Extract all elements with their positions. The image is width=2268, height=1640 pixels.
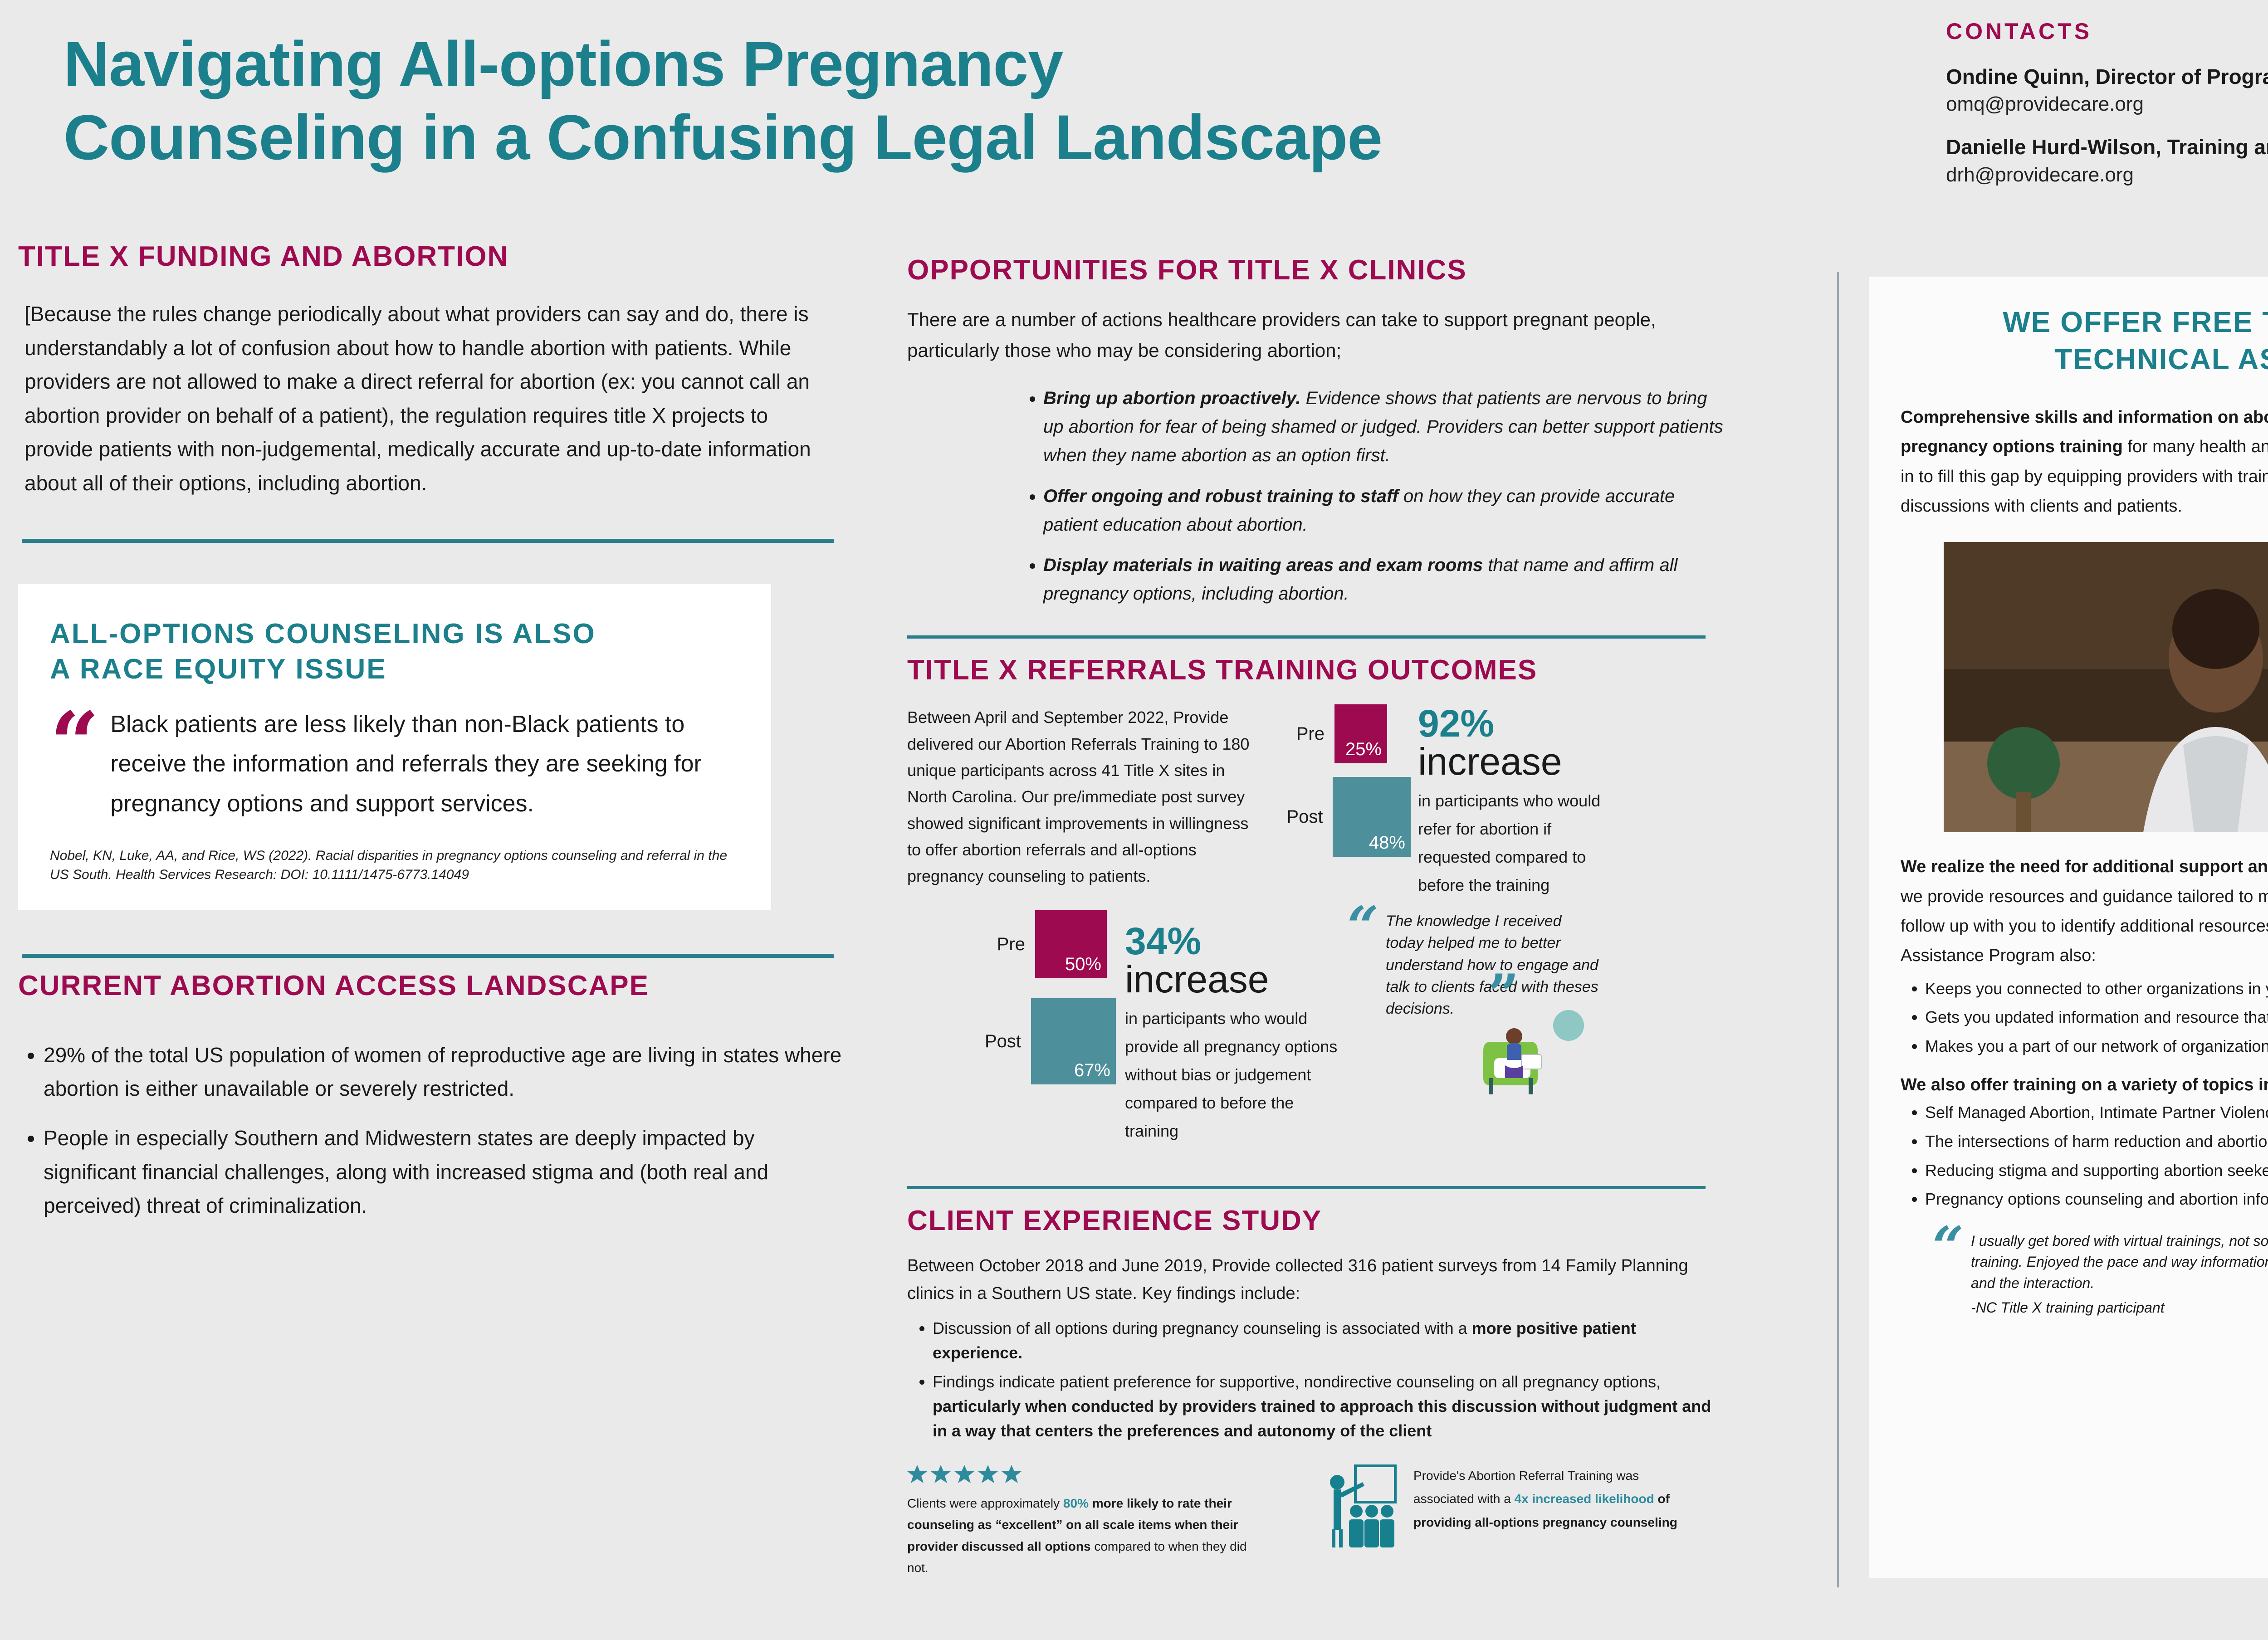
participant-quote-text: I usually get bored with virtual trainin… — [1971, 1230, 2268, 1293]
panel3-title-line2: TECHNICAL ASSISTANCE — [1901, 341, 2268, 378]
contact-name: Danielle Hurd-Wilson, Training and Outre… — [1946, 133, 2268, 161]
list-item: Gets you updated information and resourc… — [1925, 1004, 2268, 1030]
contacts-block: CONTACTS Ondine Quinn, Director of Progr… — [1946, 18, 2268, 188]
bar-post: 67% — [1031, 998, 1116, 1084]
training-presenter-icon — [1315, 1464, 1406, 1550]
ces-heading: CLIENT EXPERIENCE STUDY — [907, 1205, 1724, 1237]
landscape-heading: CURRENT ABORTION ACCESS LANDSCAPE — [18, 970, 848, 1002]
quote-card-heading: ALL-OPTIONS COUNSELING IS ALSO A RACE EQ… — [50, 616, 739, 687]
col1-heading: TITLE X FUNDING AND ABORTION — [18, 240, 848, 273]
bullet-bold: Offer ongoing and robust training to sta… — [1043, 486, 1398, 506]
page-title: Navigating All-options Pregnancy Counsel… — [64, 27, 1678, 175]
stat-34-description: in participants who would provide all pr… — [1125, 1005, 1338, 1145]
title-line-1: Navigating All-options Pregnancy — [64, 27, 1678, 101]
participant-quote-attrib: -NC Title X training participant — [1971, 1297, 2268, 1318]
title-line-2: Counseling in a Confusing Legal Landscap… — [64, 101, 1678, 174]
panel3-title-line1: WE OFFER FREE TRAINING AND — [1901, 304, 2268, 341]
opportunities-bullet-list: Bring up abortion proactively. Evidence … — [907, 384, 1724, 608]
list-item: 29% of the total US population of women … — [44, 1038, 848, 1106]
list-item: People in especially Southern and Midwes… — [44, 1121, 848, 1223]
bar-row-pre: Pre 50% — [966, 910, 1116, 978]
topics-heading: We also offer training on a variety of t… — [1901, 1075, 2268, 1095]
stat-34-word: increase — [1125, 958, 1269, 1001]
bar-label-post: Post — [1266, 807, 1333, 827]
ta-bullet-list: Keeps you connected to other organizatio… — [1901, 976, 2268, 1059]
bar-value-post: 67% — [1074, 1060, 1110, 1081]
bullet-plain: Findings indicate patient preference for… — [933, 1372, 1661, 1391]
opportunities-intro: There are a number of actions healthcare… — [907, 304, 1724, 366]
contact-entry: Danielle Hurd-Wilson, Training and Outre… — [1946, 133, 2268, 188]
stars-text-1: Clients were approximately — [907, 1496, 1063, 1510]
stat-92-title: 92% increase — [1418, 704, 1627, 781]
contact-name: Ondine Quinn, Director of Program Develo… — [1946, 63, 2268, 91]
quote-mark-icon: “ — [50, 713, 99, 775]
list-item: Self Managed Abortion, Intimate Partner … — [1925, 1099, 2268, 1126]
teach-highlight: 4x increased likelihood — [1515, 1492, 1654, 1506]
column-2: OPPORTUNITIES FOR TITLE X CLINICS There … — [907, 254, 1724, 1579]
list-item: Keeps you connected to other organizatio… — [1925, 976, 2268, 1002]
bar-pre: 25% — [1334, 704, 1387, 763]
contact-email[interactable]: omq@providecare.org — [1946, 91, 2268, 117]
list-item: Bring up abortion proactively. Evidence … — [1043, 384, 1724, 470]
list-item: The intersections of harm reduction and … — [1925, 1128, 2268, 1155]
divider-line — [907, 635, 1706, 639]
race-equity-quote-card: ALL-OPTIONS COUNSELING IS ALSO A RACE EQ… — [18, 584, 771, 910]
chart-92-bars: Pre 25% Post 48% — [1252, 704, 1411, 899]
bullet-plain: Discussion of all options during pregnan… — [933, 1319, 1472, 1337]
bullet-bold: Display materials in waiting areas and e… — [1043, 555, 1483, 575]
provider-photo-illustration — [1944, 542, 2268, 832]
provider-photo — [1944, 542, 2268, 832]
quote-heading-line1: ALL-OPTIONS COUNSELING IS ALSO — [50, 616, 739, 652]
teach-stat: Provide's Abortion Referral Training was… — [1315, 1464, 1706, 1579]
list-item: Discussion of all options during pregnan… — [933, 1316, 1724, 1365]
bullet-bold: Bring up abortion proactively. — [1043, 388, 1300, 408]
list-item: Reducing stigma and supporting abortion … — [1925, 1157, 2268, 1184]
bar-label-post: Post — [966, 1031, 1031, 1052]
quote-text: Black patients are less likely than non-… — [110, 705, 739, 824]
bar-label-pre: Pre — [966, 934, 1035, 955]
quote-mark-icon: “ — [1347, 910, 1378, 1020]
bar-row-post: Post 48% — [1266, 777, 1411, 857]
stars-highlight: 80% — [1063, 1496, 1089, 1510]
divider-line — [22, 539, 834, 543]
stat-34-title: 34% increase — [1125, 922, 1338, 998]
stat-92: 92% increase in participants who would r… — [1411, 704, 1627, 899]
column-1: TITLE X FUNDING AND ABORTION [Because th… — [18, 240, 848, 1238]
teach-stat-text: Provide's Abortion Referral Training was… — [1406, 1464, 1695, 1579]
participant-quote-block: “ I usually get bored with virtual train… — [1901, 1230, 2268, 1318]
stars-stat: Clients were approximately 80% more like… — [907, 1464, 1315, 1579]
stat-92-number: 92% — [1418, 702, 1494, 745]
bar-pre: 50% — [1035, 910, 1107, 978]
topics-list: Self Managed Abortion, Intimate Partner … — [1901, 1099, 2268, 1212]
citation: Nobel, KN, Luke, AA, and Rice, WS (2022)… — [50, 846, 739, 884]
bar-value-post: 48% — [1369, 833, 1405, 853]
person-reading-illustration — [1474, 1005, 1592, 1096]
panel3-intro: Comprehensive skills and information on … — [1901, 403, 2268, 521]
list-item: Pregnancy options counseling and abortio… — [1925, 1186, 2268, 1212]
list-item: Offer ongoing and robust training to sta… — [1043, 482, 1724, 539]
landscape-bullet-list: 29% of the total US population of women … — [18, 1038, 848, 1223]
bar-label-pre: Pre — [1266, 724, 1334, 744]
col1-paragraph: [Because the rules change periodically a… — [18, 297, 848, 500]
quote-heading-line2: A RACE EQUITY ISSUE — [50, 652, 739, 687]
opportunities-heading: OPPORTUNITIES FOR TITLE X CLINICS — [907, 254, 1724, 286]
participant-quote-body: I usually get bored with virtual trainin… — [1971, 1230, 2268, 1318]
ces-intro: Between October 2018 and June 2019, Prov… — [907, 1252, 1724, 1308]
column-3-panel: WE OFFER FREE TRAINING AND TECHNICAL ASS… — [1869, 277, 2268, 1578]
list-item: Makes you a part of our network of organ… — [1925, 1033, 2268, 1059]
divider-line — [22, 954, 834, 958]
divider-line — [907, 1186, 1706, 1189]
stat-92-description: in participants who would refer for abor… — [1418, 787, 1627, 899]
panel3-support-bold: We realize the need for additional suppo… — [1901, 857, 2268, 876]
col1-paragraph-text: [Because the rules change periodically a… — [24, 302, 811, 495]
ces-bullet-list: Discussion of all options during pregnan… — [907, 1316, 1724, 1443]
bar-row-post: Post 67% — [966, 998, 1116, 1084]
stat-34: 34% increase in participants who would p… — [1116, 910, 1338, 1145]
panel3-support: We realize the need for additional suppo… — [1901, 852, 2268, 971]
stars-stat-text: Clients were approximately 80% more like… — [907, 1493, 1252, 1579]
outcomes-paragraph: Between April and September 2022, Provid… — [907, 704, 1252, 899]
five-stars-icon — [907, 1464, 1025, 1485]
chart-34-bars: Pre 50% Post 67% — [907, 910, 1116, 1145]
outcomes-row-1: Between April and September 2022, Provid… — [907, 704, 1724, 899]
list-item: Display materials in waiting areas and e… — [1043, 551, 1724, 608]
stat-92-word: increase — [1418, 740, 1562, 783]
list-item: Findings indicate patient preference for… — [933, 1370, 1724, 1443]
training-quote-block: “ The knowledge I received today helped … — [1338, 910, 1601, 1145]
bar-row-pre: Pre 25% — [1266, 704, 1411, 763]
vertical-divider — [1837, 272, 1839, 1587]
outcomes-row-2: Pre 50% Post 67% 34% increase in partici… — [907, 910, 1724, 1145]
poster-root: Navigating All-options Pregnancy Counsel… — [0, 0, 2268, 1640]
bar-post: 48% — [1333, 777, 1411, 857]
outcomes-heading: TITLE X REFERRALS TRAINING OUTCOMES — [907, 654, 1724, 686]
ces-icon-row: Clients were approximately 80% more like… — [907, 1464, 1724, 1579]
quote-mark-icon: “ — [1932, 1230, 1964, 1318]
contact-email[interactable]: drh@providecare.org — [1946, 161, 2268, 188]
bullet-bold: particularly when conducted by providers… — [933, 1397, 1711, 1440]
stat-34-number: 34% — [1125, 920, 1201, 962]
contact-entry: Ondine Quinn, Director of Program Develo… — [1946, 63, 2268, 117]
bar-value-pre: 25% — [1345, 739, 1382, 760]
contacts-heading: CONTACTS — [1946, 18, 2268, 44]
panel3-title: WE OFFER FREE TRAINING AND TECHNICAL ASS… — [1901, 304, 2268, 378]
bar-value-pre: 50% — [1065, 954, 1101, 975]
